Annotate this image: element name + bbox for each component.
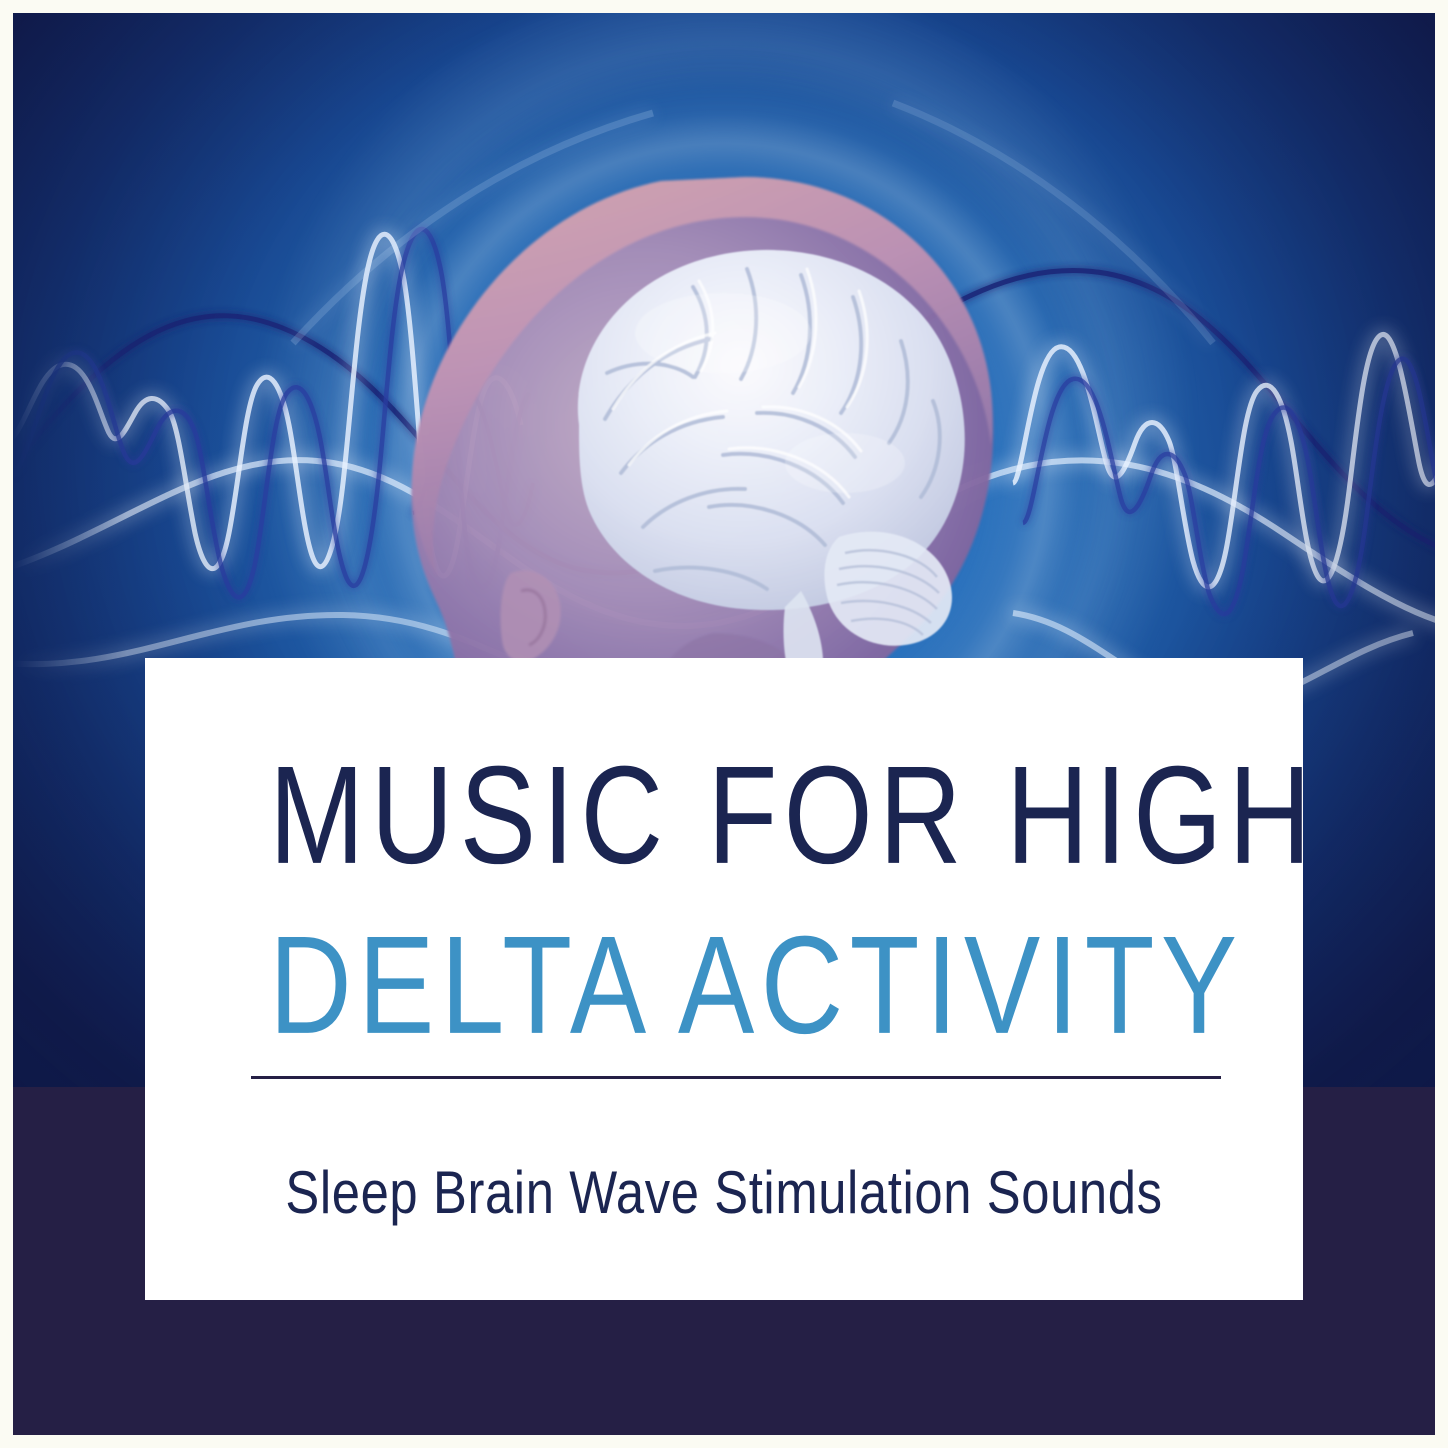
title-card: MUSIC FOR HIGH DELTA ACTIVITY Sleep Brai…	[145, 658, 1303, 1300]
album-cover: MUSIC FOR HIGH DELTA ACTIVITY Sleep Brai…	[0, 0, 1448, 1448]
title-line-secondary: DELTA ACTIVITY	[269, 916, 1181, 1055]
subtitle: Sleep Brain Wave Stimulation Sounds	[180, 1158, 1269, 1227]
title-line-primary: MUSIC FOR HIGH	[269, 746, 1181, 885]
title-divider	[251, 1076, 1221, 1079]
title-block: MUSIC FOR HIGH DELTA ACTIVITY	[255, 746, 1195, 1034]
cover-artwork: MUSIC FOR HIGH DELTA ACTIVITY Sleep Brai…	[13, 13, 1435, 1435]
